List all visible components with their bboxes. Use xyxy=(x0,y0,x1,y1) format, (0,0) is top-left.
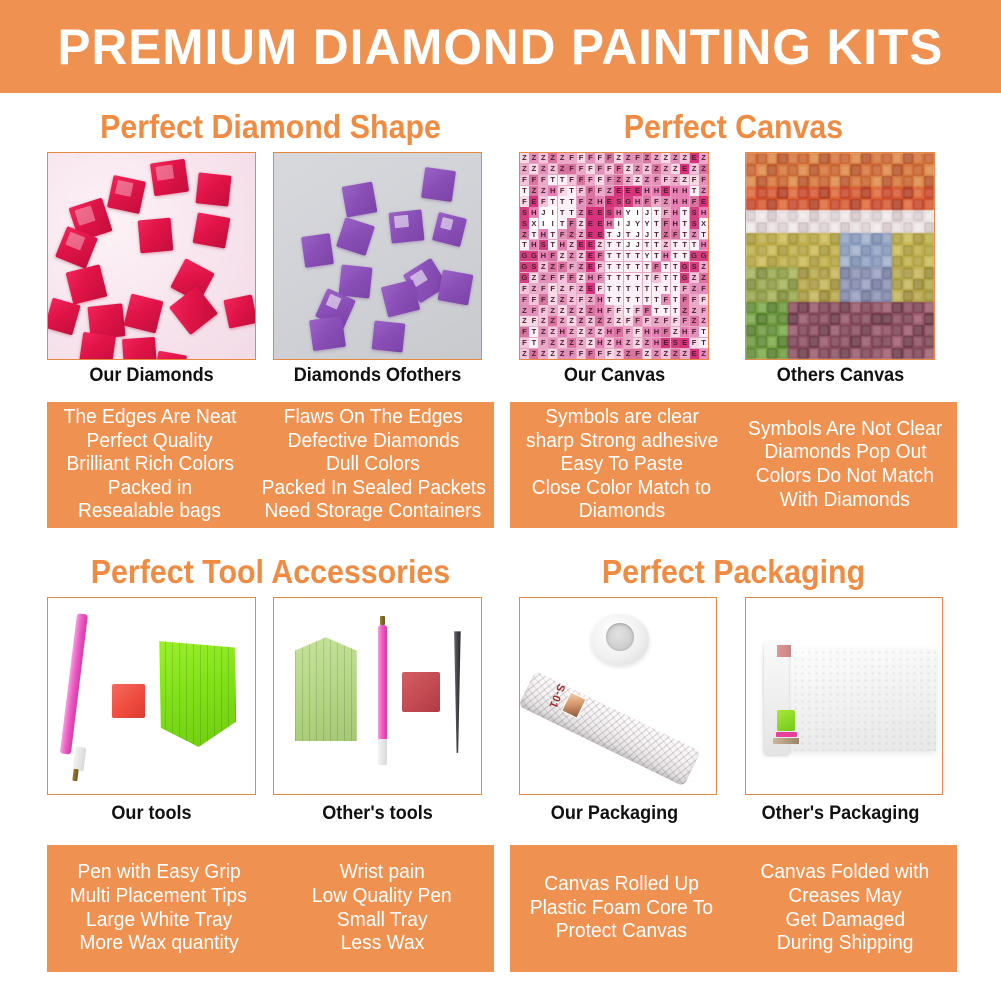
mosaic-cell xyxy=(850,325,860,336)
mosaic-cell xyxy=(924,199,934,210)
mosaic-cell xyxy=(861,290,871,301)
mosaic-cell xyxy=(903,164,913,175)
canvas-symbol-cell: E xyxy=(586,229,595,239)
text-line: Flaws On The Edges xyxy=(284,406,463,430)
mosaic-cell xyxy=(767,348,777,359)
canvas-symbol-cell: Z xyxy=(671,349,680,359)
canvas-symbol-cell: Z xyxy=(661,240,670,250)
text-line: Creases May xyxy=(789,885,902,909)
mosaic-cell xyxy=(882,176,892,187)
mosaic-cell xyxy=(882,222,892,233)
canvas-symbol-cell: Z xyxy=(680,175,689,185)
mosaic-cell xyxy=(913,176,923,187)
canvas-symbol-cell: H xyxy=(671,218,680,228)
mosaic-cell xyxy=(882,153,892,164)
canvas-symbol-cell: T xyxy=(548,196,557,206)
panel-others-canvas xyxy=(745,152,935,360)
canvas-symbol-cell: Z xyxy=(539,153,548,163)
canvas-symbol-cell: T xyxy=(520,240,529,250)
mosaic-cell xyxy=(756,302,766,313)
canvas-symbol-cell: Z xyxy=(548,327,557,337)
canvas-symbol-cell: T xyxy=(633,262,642,272)
canvas-symbol-cell: T xyxy=(624,229,633,239)
canvas-symbol-cell: F xyxy=(595,153,604,163)
canvas-symbol-cell: Z xyxy=(529,349,538,359)
canvas-symbol-cell: Z xyxy=(567,338,576,348)
canvas-symbol-cell: G xyxy=(680,262,689,272)
canvas-symbol-cell: T xyxy=(699,338,708,348)
mosaic-cell xyxy=(871,233,881,244)
canvas-symbol-cell: Z xyxy=(680,349,689,359)
canvas-symbol-cell: Z xyxy=(586,316,595,326)
mosaic-cell xyxy=(798,336,808,347)
canvas-symbol-cell: H xyxy=(558,327,567,337)
canvas-symbol-cell: T xyxy=(680,207,689,217)
canvas-symbol-cell: Z xyxy=(539,164,548,174)
canvas-symbol-cell: Y xyxy=(643,251,652,261)
mosaic-cell xyxy=(756,199,766,210)
canvas-symbol-cell: Z xyxy=(595,327,604,337)
mosaic-cell xyxy=(830,302,840,313)
canvas-symbol-cell: F xyxy=(520,283,529,293)
canvas-symbol-cell: T xyxy=(690,240,699,250)
canvas-symbol-cell: Z xyxy=(558,164,567,174)
mosaic-cell xyxy=(871,210,881,221)
mosaic-cell xyxy=(903,290,913,301)
canvas-symbol-cell: F xyxy=(661,327,670,337)
textbox-canvas-ours: Symbols are clear sharp Strong adhesive … xyxy=(510,402,734,528)
mosaic-cell xyxy=(924,176,934,187)
mosaic-cell xyxy=(924,348,934,359)
canvas-symbol-cell: T xyxy=(529,338,538,348)
mosaic-cell xyxy=(819,245,829,256)
mosaic-cell xyxy=(882,233,892,244)
mosaic-cell xyxy=(903,199,913,210)
mosaic-cell xyxy=(840,279,850,290)
canvas-symbol-cell: F xyxy=(690,327,699,337)
textbox-diamond-ours: The Edges Are Neat Perfect Quality Brill… xyxy=(47,402,253,528)
textbox-tools-ours: Pen with Easy Grip Multi Placement Tips … xyxy=(47,845,271,972)
mosaic-cell xyxy=(798,164,808,175)
canvas-symbol-cell: E xyxy=(586,218,595,228)
mosaic-cell xyxy=(777,267,787,278)
mosaic-cell xyxy=(788,290,798,301)
canvas-symbol-cell: F xyxy=(567,349,576,359)
caption-others-packaging: Other's Packaging xyxy=(741,803,940,825)
mosaic-cell xyxy=(840,336,850,347)
textbox-canvas: Symbols are clear sharp Strong adhesive … xyxy=(510,402,957,528)
canvas-symbol-cell: T xyxy=(643,262,652,272)
mosaic-cell xyxy=(756,256,766,267)
mosaic-cell xyxy=(892,164,902,175)
canvas-symbol-cell: F xyxy=(558,186,567,196)
canvas-symbol-cell: Z xyxy=(539,262,548,272)
canvas-symbol-cell: Z xyxy=(633,164,642,174)
canvas-symbol-cell: Z xyxy=(614,153,623,163)
mosaic-cell xyxy=(756,245,766,256)
canvas-symbol-cell: Z xyxy=(558,316,567,326)
canvas-symbol-cell: F xyxy=(558,262,567,272)
mosaic-cell xyxy=(892,348,902,359)
canvas-symbol-cell: F xyxy=(614,327,623,337)
canvas-symbol-cell: Z xyxy=(661,153,670,163)
canvas-symbol-cell: F xyxy=(633,327,642,337)
mosaic-cell xyxy=(767,210,777,221)
canvas-symbol-cell: F xyxy=(567,164,576,174)
canvas-symbol-cell: T xyxy=(652,207,661,217)
canvas-symbol-cell: F xyxy=(605,153,614,163)
mosaic-cell xyxy=(777,164,787,175)
canvas-symbol-cell: E xyxy=(586,207,595,217)
mosaic-cell xyxy=(861,153,871,164)
mosaic-cell xyxy=(861,313,871,324)
mosaic-cell xyxy=(892,325,902,336)
canvas-symbol-cell: G xyxy=(690,251,699,261)
canvas-symbol-cell: T xyxy=(605,294,614,304)
text-line: Easy To Paste xyxy=(561,453,683,477)
canvas-symbol-cell: F xyxy=(567,273,576,283)
mosaic-cell xyxy=(850,313,860,324)
canvas-symbol-cell: Z xyxy=(586,338,595,348)
textbox-tools: Pen with Easy Grip Multi Placement Tips … xyxy=(47,845,494,972)
mosaic-cell xyxy=(924,302,934,313)
canvas-symbol-cell: H xyxy=(595,305,604,315)
canvas-symbol-cell: T xyxy=(671,262,680,272)
canvas-symbol-cell: Z xyxy=(520,349,529,359)
mosaic-cell xyxy=(840,325,850,336)
mosaic-cell xyxy=(830,313,840,324)
mosaic-cell xyxy=(924,210,934,221)
mosaic-cell xyxy=(903,176,913,187)
canvas-symbol-cell: I xyxy=(548,207,557,217)
mosaic-cell xyxy=(871,164,881,175)
text-line: Symbols are clear xyxy=(545,406,699,430)
mosaic-cell xyxy=(882,164,892,175)
canvas-symbol-cell: Z xyxy=(529,283,538,293)
mosaic-cell xyxy=(871,348,881,359)
mosaic-cell xyxy=(871,199,881,210)
mosaic-cell xyxy=(746,336,756,347)
mosaic-cell xyxy=(913,187,923,198)
mosaic-cell xyxy=(861,164,871,175)
mosaic-cell xyxy=(850,176,860,187)
mosaic-cell xyxy=(924,187,934,198)
mosaic-cell xyxy=(767,256,777,267)
canvas-symbol-cell: T xyxy=(680,218,689,228)
mosaic-cell xyxy=(840,290,850,301)
mosaic-cell xyxy=(830,245,840,256)
mosaic-cell xyxy=(892,279,902,290)
mosaic-cell xyxy=(809,233,819,244)
canvas-symbol-cell: T xyxy=(624,283,633,293)
mosaic-cell xyxy=(913,210,923,221)
canvas-symbol-cell: E xyxy=(690,349,699,359)
canvas-symbol-cell: T xyxy=(661,262,670,272)
canvas-symbol-cell: J xyxy=(624,218,633,228)
canvas-symbol-cell: S xyxy=(690,207,699,217)
canvas-symbol-cell: I xyxy=(633,207,642,217)
canvas-symbol-cell: Z xyxy=(643,164,652,174)
canvas-symbol-cell: Z xyxy=(690,229,699,239)
mosaic-cell xyxy=(871,176,881,187)
mosaic-cell xyxy=(913,267,923,278)
canvas-symbol-cell: Z xyxy=(558,283,567,293)
canvas-symbol-cell: Z xyxy=(567,305,576,315)
canvas-symbol-cell: E xyxy=(614,186,623,196)
canvas-symbol-cell: H xyxy=(529,240,538,250)
canvas-symbol-cell: J xyxy=(643,229,652,239)
canvas-symbol-cell: F xyxy=(539,305,548,315)
mosaic-cell xyxy=(798,233,808,244)
canvas-symbol-cell: H xyxy=(548,186,557,196)
canvas-symbol-cell: E xyxy=(680,338,689,348)
canvas-symbol-cell: F xyxy=(577,153,586,163)
canvas-symbol-cell: Z xyxy=(690,164,699,174)
mosaic-cell xyxy=(903,256,913,267)
canvas-symbol-cell: Z xyxy=(577,207,586,217)
canvas-symbol-cell: T xyxy=(624,305,633,315)
canvas-symbol-cell: Z xyxy=(548,305,557,315)
canvas-symbol-cell: F xyxy=(520,175,529,185)
mosaic-cell xyxy=(746,302,756,313)
mosaic-cell xyxy=(903,267,913,278)
mosaic-cell xyxy=(913,222,923,233)
canvas-symbol-cell: T xyxy=(529,229,538,239)
canvas-symbol-cell: H xyxy=(643,186,652,196)
text-line: Symbols Are Not Clear xyxy=(748,418,942,442)
canvas-symbol-cell: F xyxy=(624,316,633,326)
canvas-symbol-cell: Z xyxy=(520,229,529,239)
mosaic-cell xyxy=(819,279,829,290)
canvas-symbol-cell: Z xyxy=(690,305,699,315)
mosaic-cell xyxy=(840,199,850,210)
mosaic-cell xyxy=(871,325,881,336)
mosaic-cell xyxy=(850,348,860,359)
mosaic-cell xyxy=(871,256,881,267)
canvas-symbol-cell: F xyxy=(577,294,586,304)
mosaic-cell xyxy=(819,267,829,278)
canvas-symbol-cell: Z xyxy=(699,186,708,196)
mosaic-cell xyxy=(777,176,787,187)
mosaic-cell xyxy=(788,267,798,278)
mosaic-cell xyxy=(871,313,881,324)
canvas-symbol-cell: Z xyxy=(652,349,661,359)
canvas-symbol-cell: Z xyxy=(671,153,680,163)
mosaic-cell xyxy=(882,279,892,290)
canvas-symbol-cell: Z xyxy=(699,349,708,359)
mosaic-cell xyxy=(746,210,756,221)
canvas-symbol-cell: F xyxy=(690,175,699,185)
canvas-symbol-cell: Z xyxy=(690,273,699,283)
canvas-symbol-cell: T xyxy=(567,186,576,196)
mosaic-cell xyxy=(746,164,756,175)
mosaic-cell xyxy=(830,187,840,198)
canvas-symbol-cell: Z xyxy=(614,175,623,185)
canvas-symbol-cell: F xyxy=(520,338,529,348)
canvas-symbol-cell: Z xyxy=(539,186,548,196)
canvas-symbol-cell: F xyxy=(567,175,576,185)
canvas-symbol-cell: T xyxy=(652,294,661,304)
text-line: Perfect Quality xyxy=(87,430,213,454)
canvas-symbol-cell: Z xyxy=(577,283,586,293)
mosaic-cell xyxy=(850,153,860,164)
canvas-symbol-cell: Z xyxy=(643,153,652,163)
mosaic-cell xyxy=(903,302,913,313)
panel-others-packaging xyxy=(745,597,943,795)
canvas-symbol-cell: T xyxy=(529,327,538,337)
mosaic-cell xyxy=(798,187,808,198)
canvas-symbol-cell: Z xyxy=(680,305,689,315)
mosaic-cell xyxy=(819,176,829,187)
mosaic-cell xyxy=(882,187,892,198)
canvas-symbol-cell: Z xyxy=(520,305,529,315)
canvas-symbol-cell: E xyxy=(680,164,689,174)
mosaic-cell xyxy=(809,313,819,324)
canvas-symbol-cell: F xyxy=(567,218,576,228)
text-line: Canvas Rolled Up xyxy=(544,873,699,897)
caption-our-tools: Our tools xyxy=(52,803,251,825)
mosaic-cell xyxy=(840,176,850,187)
canvas-symbol-cell: F xyxy=(529,305,538,315)
canvas-symbol-cell: Z xyxy=(558,305,567,315)
mosaic-cell xyxy=(924,222,934,233)
mosaic-cell xyxy=(788,256,798,267)
canvas-symbol-cell: F xyxy=(643,305,652,315)
canvas-symbol-cell: Z xyxy=(577,218,586,228)
mosaic-cell xyxy=(913,313,923,324)
mosaic-cell xyxy=(850,336,860,347)
mosaic-cell xyxy=(819,199,829,210)
canvas-symbol-cell: H xyxy=(652,327,661,337)
text-line: Resealable bags xyxy=(78,500,221,524)
canvas-symbol-cell: Z xyxy=(577,229,586,239)
mosaic-cell xyxy=(788,336,798,347)
text-line: Small Tray xyxy=(337,909,428,933)
canvas-symbol-cell: F xyxy=(595,273,604,283)
panel-our-packaging: S-01 xyxy=(519,597,717,795)
canvas-symbol-cell: Z xyxy=(652,153,661,163)
canvas-symbol-cell: T xyxy=(671,305,680,315)
mosaic-cell xyxy=(840,302,850,313)
mosaic-cell xyxy=(788,187,798,198)
canvas-symbol-cell: Z xyxy=(633,338,642,348)
canvas-symbol-cell: F xyxy=(586,153,595,163)
canvas-symbol-cell: Z xyxy=(690,316,699,326)
textbox-packaging: Canvas Rolled Up Plastic Foam Core To Pr… xyxy=(510,845,957,972)
mosaic-cell xyxy=(788,325,798,336)
canvas-symbol-cell: F xyxy=(614,305,623,315)
mosaic-cell xyxy=(903,245,913,256)
panel-our-diamonds xyxy=(47,152,256,360)
mosaic-cell xyxy=(746,153,756,164)
canvas-symbol-cell: E xyxy=(690,153,699,163)
blurry-mosaic xyxy=(746,153,934,359)
canvas-symbol-cell: F xyxy=(539,283,548,293)
canvas-symbol-cell: H xyxy=(595,196,604,206)
section-title-tools: Perfect Tool Accessories xyxy=(65,553,476,591)
canvas-symbol-cell: Z xyxy=(624,338,633,348)
text-line: Large White Tray xyxy=(86,909,232,933)
canvas-symbol-cell: H xyxy=(605,218,614,228)
text-line: Defective Diamonds xyxy=(287,430,459,454)
canvas-symbol-cell: S xyxy=(605,207,614,217)
canvas-symbol-cell: Z xyxy=(699,262,708,272)
canvas-symbol-cell: Z xyxy=(539,316,548,326)
canvas-symbol-cell: Y xyxy=(624,207,633,217)
mosaic-cell xyxy=(809,348,819,359)
mosaic-cell xyxy=(746,176,756,187)
canvas-symbol-cell: E xyxy=(586,251,595,261)
canvas-symbol-cell: Z xyxy=(577,305,586,315)
canvas-symbol-cell: Z xyxy=(567,294,576,304)
mosaic-cell xyxy=(924,290,934,301)
mosaic-cell xyxy=(809,199,819,210)
canvas-symbol-cell: F xyxy=(680,294,689,304)
mosaic-cell xyxy=(777,302,787,313)
canvas-symbol-cell: G xyxy=(520,273,529,283)
mosaic-cell xyxy=(850,187,860,198)
canvas-symbol-cell: T xyxy=(671,283,680,293)
mosaic-cell xyxy=(830,199,840,210)
mosaic-cell xyxy=(840,313,850,324)
canvas-symbol-cell: E xyxy=(529,196,538,206)
mosaic-cell xyxy=(861,222,871,233)
mosaic-cell xyxy=(913,348,923,359)
canvas-symbol-cell: H xyxy=(633,196,642,206)
canvas-symbol-cell: F xyxy=(520,294,529,304)
mosaic-cell xyxy=(903,222,913,233)
canvas-symbol-cell: Z xyxy=(520,153,529,163)
mosaic-cell xyxy=(913,199,923,210)
mosaic-cell xyxy=(819,313,829,324)
mosaic-cell xyxy=(871,187,881,198)
canvas-symbol-cell: J xyxy=(539,207,548,217)
mosaic-cell xyxy=(861,187,871,198)
text-line: Need Storage Containers xyxy=(265,500,482,524)
mosaic-cell xyxy=(819,256,829,267)
canvas-symbol-cell: E xyxy=(586,262,595,272)
canvas-symbol-cell: F xyxy=(699,175,708,185)
mosaic-cell xyxy=(861,279,871,290)
panel-our-tools xyxy=(47,597,256,795)
canvas-symbol-cell: H xyxy=(595,294,604,304)
canvas-symbol-cell: F xyxy=(680,316,689,326)
mosaic-cell xyxy=(756,153,766,164)
mosaic-cell xyxy=(767,233,777,244)
canvas-symbol-cell: T xyxy=(624,251,633,261)
canvas-symbol-cell: G xyxy=(624,196,633,206)
canvas-symbol-cell: T xyxy=(671,251,680,261)
canvas-symbol-cell: Z xyxy=(586,294,595,304)
canvas-symbol-cell: F xyxy=(690,196,699,206)
canvas-symbol-cell: Z xyxy=(567,327,576,337)
canvas-symbol-cell: Z xyxy=(671,175,680,185)
canvas-symbol-cell: T xyxy=(558,207,567,217)
mosaic-cell xyxy=(913,279,923,290)
canvas-symbol-cell: G xyxy=(520,251,529,261)
text-line: Diamonds xyxy=(579,500,665,524)
canvas-symbol-cell: Z xyxy=(577,327,586,337)
canvas-symbol-cell: S xyxy=(529,262,538,272)
canvas-symbol-cell: J xyxy=(643,207,652,217)
mosaic-cell xyxy=(840,210,850,221)
canvas-symbol-cell: H xyxy=(643,327,652,337)
mosaic-cell xyxy=(798,210,808,221)
infographic-page: PREMIUM DIAMOND PAINTING KITS Perfect Di… xyxy=(0,0,1001,1001)
canvas-symbol-cell: H xyxy=(652,186,661,196)
panel-others-diamonds xyxy=(273,152,482,360)
mosaic-cell xyxy=(819,336,829,347)
